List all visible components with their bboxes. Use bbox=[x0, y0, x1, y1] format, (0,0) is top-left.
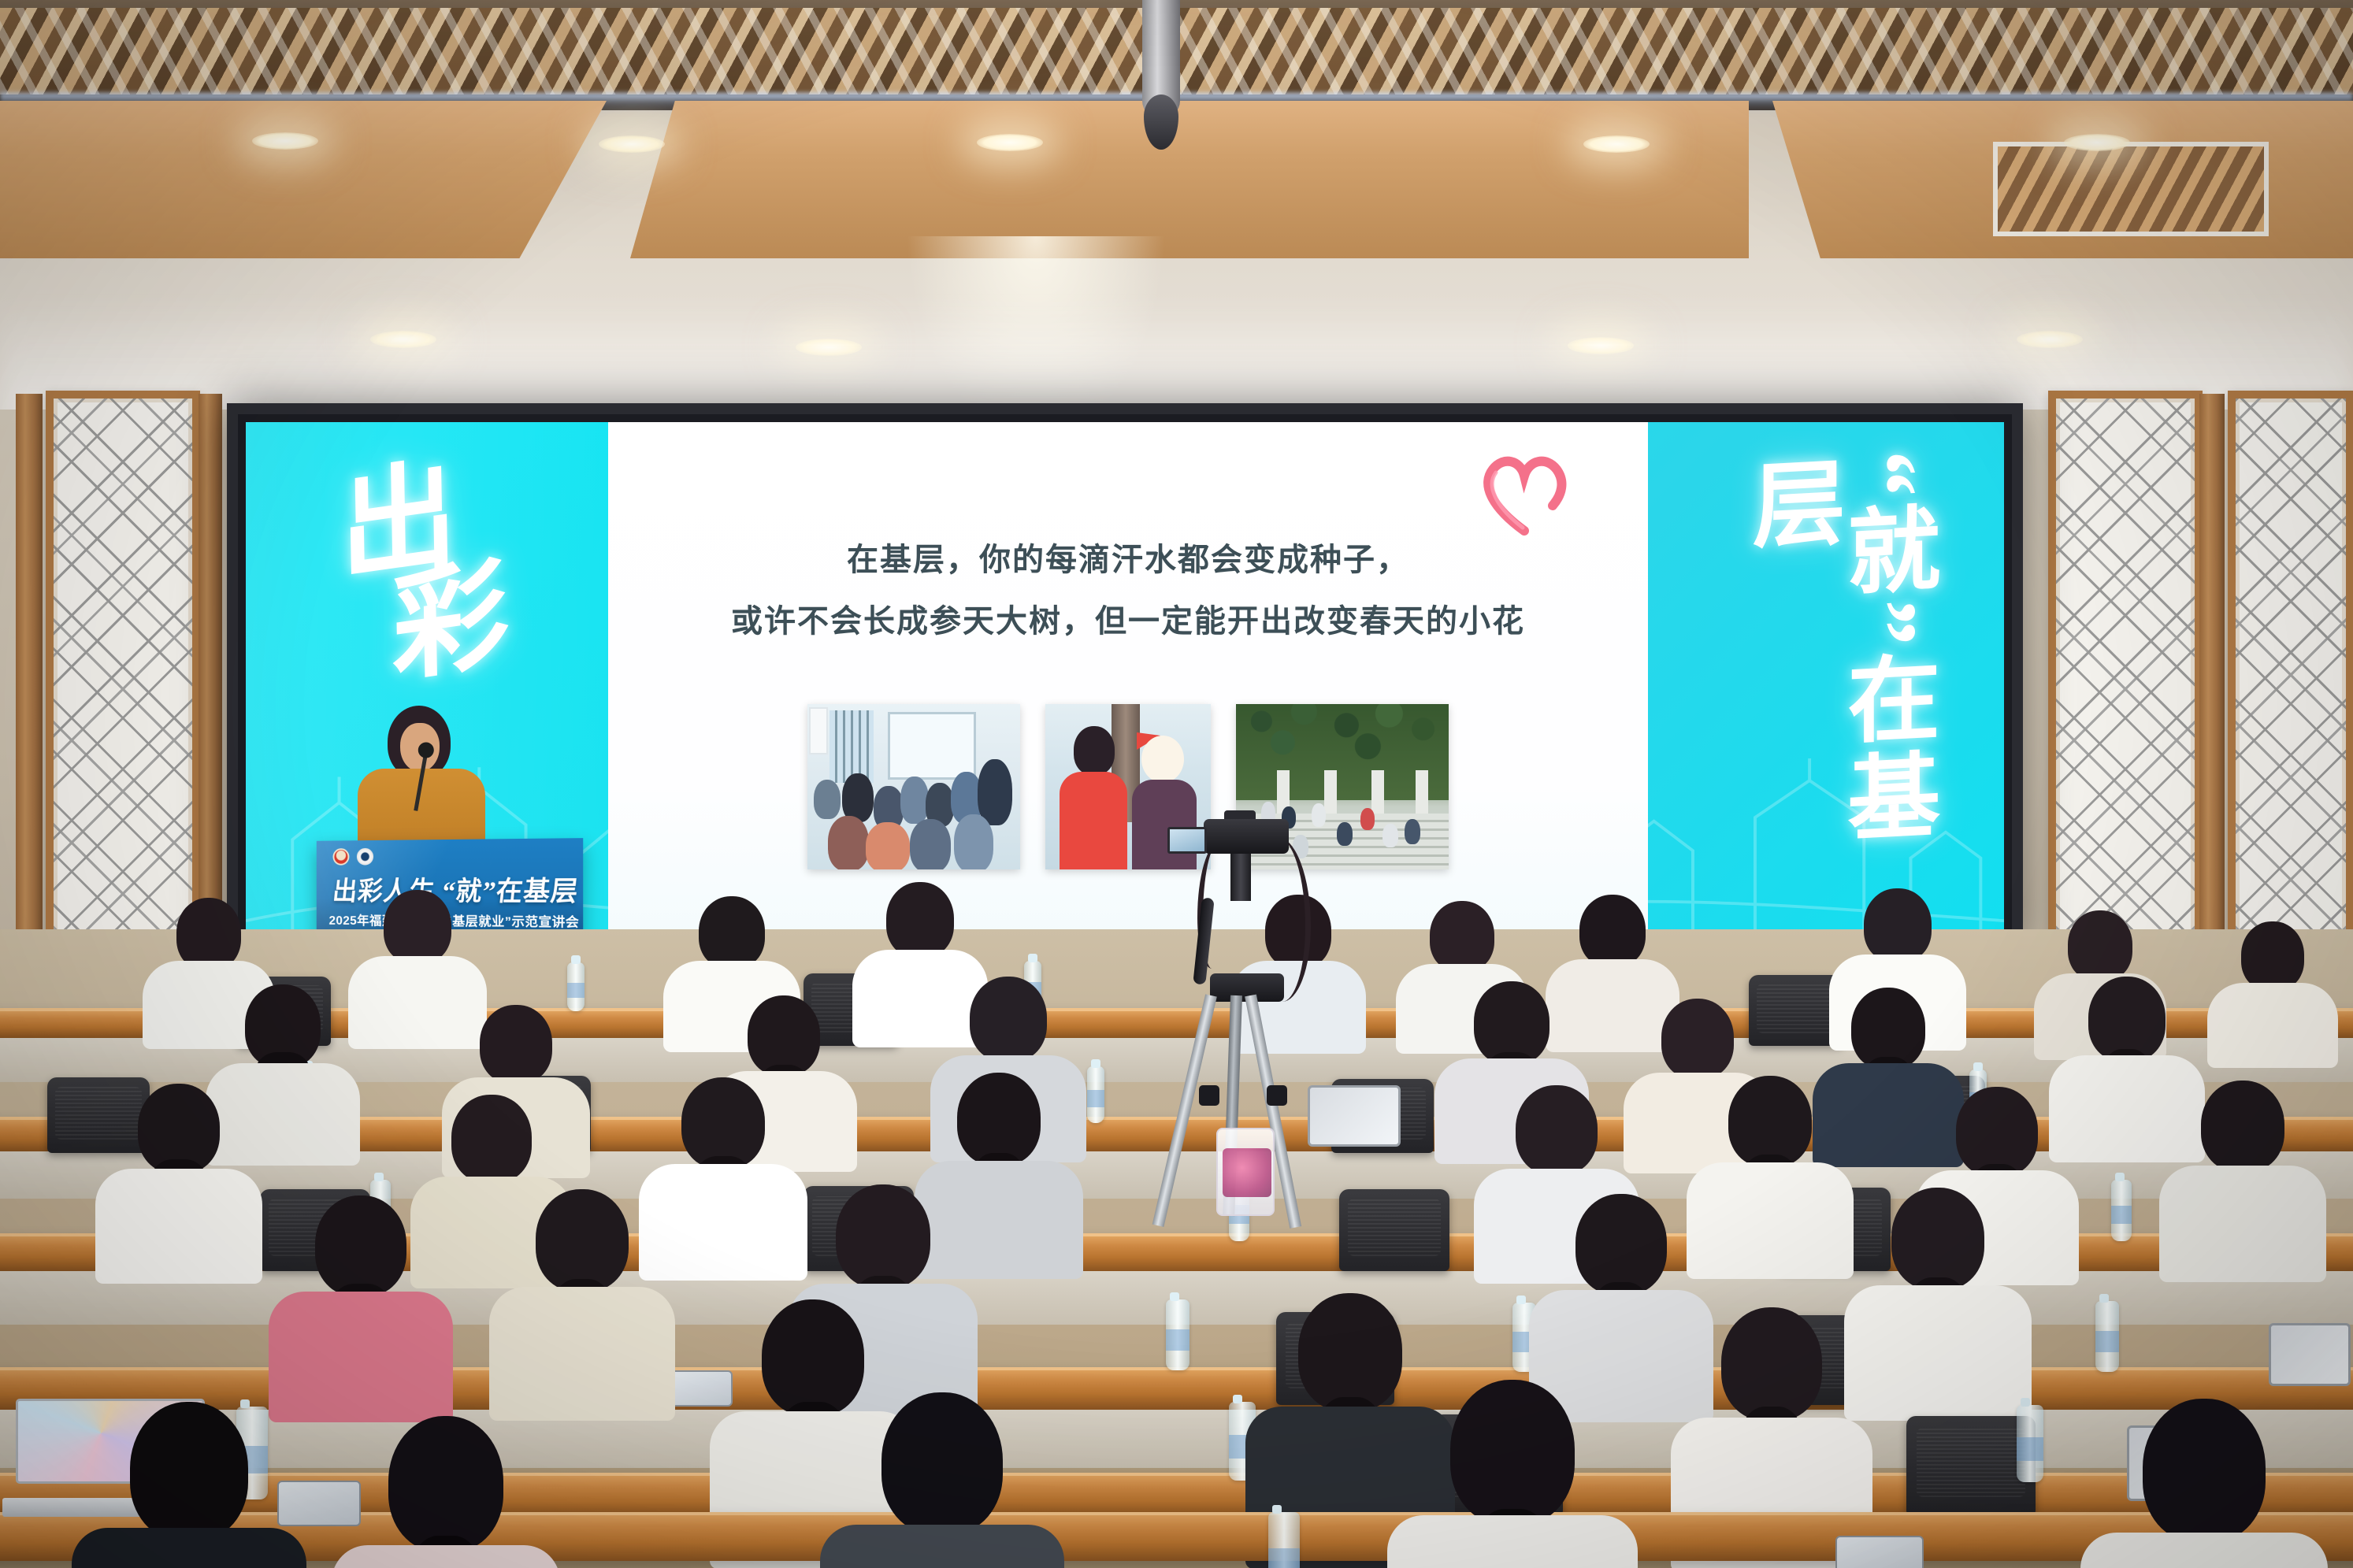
downlight-icon bbox=[599, 135, 665, 153]
slide-photo-strip bbox=[608, 704, 1648, 869]
hanging-speaker bbox=[1142, 0, 1180, 118]
attendee-foreground bbox=[1386, 1380, 1639, 1568]
water-bottle bbox=[1166, 1299, 1189, 1370]
ceiling-soffit-center bbox=[630, 101, 1749, 258]
brush-heart-icon bbox=[1476, 449, 1572, 536]
right-calligraphy: “就”在基层 bbox=[1742, 449, 1932, 936]
slide-text-block: 在基层，你的每滴汗水都会变成种子， 或许不会长成参天大树，但一定能开出改变春天的… bbox=[608, 529, 1648, 652]
attendee-foreground bbox=[71, 1402, 307, 1568]
ceiling-soffit-left bbox=[0, 101, 607, 258]
tripod-leg-clamp[interactable] bbox=[1267, 1085, 1287, 1106]
podium-logo-group bbox=[333, 848, 374, 866]
drink-cup bbox=[1216, 1128, 1275, 1216]
tripod-leg bbox=[1152, 994, 1217, 1227]
attendee bbox=[95, 1084, 263, 1281]
slide-photo-classroom-children bbox=[807, 704, 1020, 869]
lecture-hall-scene: 出 彩 在基层，你的每滴汗水都会变成种子， 或许不会长成参天大树，但一定能开出改… bbox=[0, 0, 2353, 1568]
attendee bbox=[2158, 1081, 2327, 1281]
downlight-icon bbox=[2064, 134, 2130, 151]
tripod-center-column bbox=[1230, 854, 1251, 901]
emblem-logo-icon bbox=[333, 848, 350, 866]
water-bottle bbox=[2095, 1301, 2119, 1372]
attendee bbox=[488, 1189, 676, 1419]
presentation-slide: 在基层，你的每滴汗水都会变成种子， 或许不会长成参天大树，但一定能开出改变春天的… bbox=[608, 422, 1648, 936]
attendee-foreground bbox=[331, 1416, 561, 1568]
ceiling-recess-panel bbox=[1993, 142, 2269, 236]
camera-flip-screen[interactable] bbox=[1167, 827, 1207, 854]
water-bottle bbox=[2111, 1180, 2132, 1241]
left-calligraphy: 出 彩 bbox=[340, 449, 506, 697]
chair bbox=[1339, 1189, 1449, 1271]
slide-text-line-2: 或许不会长成参天大树，但一定能开出改变春天的小花 bbox=[608, 591, 1648, 652]
water-bottle bbox=[2017, 1405, 2043, 1482]
attendee-foreground bbox=[2080, 1399, 2329, 1568]
water-bottle bbox=[1087, 1066, 1104, 1123]
downlight-icon bbox=[1583, 135, 1650, 153]
tablet-device[interactable] bbox=[2269, 1323, 2351, 1386]
downlight-icon bbox=[252, 132, 318, 150]
tripod-leg-clamp[interactable] bbox=[1199, 1085, 1219, 1106]
attendee bbox=[2206, 921, 2340, 1063]
attendee bbox=[268, 1195, 454, 1421]
mobile-phone[interactable] bbox=[1835, 1536, 1924, 1568]
attendee-foreground bbox=[819, 1392, 1065, 1568]
water-bottle bbox=[567, 962, 585, 1011]
left-calligraphy-char-2: 彩 bbox=[391, 555, 505, 690]
screen-right-panel: “就”在基层 bbox=[1610, 422, 2004, 936]
slide-text-line-1: 在基层，你的每滴汗水都会变成种子， bbox=[608, 529, 1648, 591]
water-bottle bbox=[1268, 1512, 1300, 1568]
downlight-icon bbox=[977, 134, 1043, 151]
camera-body bbox=[1204, 819, 1289, 854]
institution-logo-icon bbox=[357, 848, 373, 866]
video-camera-tripod[interactable] bbox=[1163, 819, 1328, 1229]
